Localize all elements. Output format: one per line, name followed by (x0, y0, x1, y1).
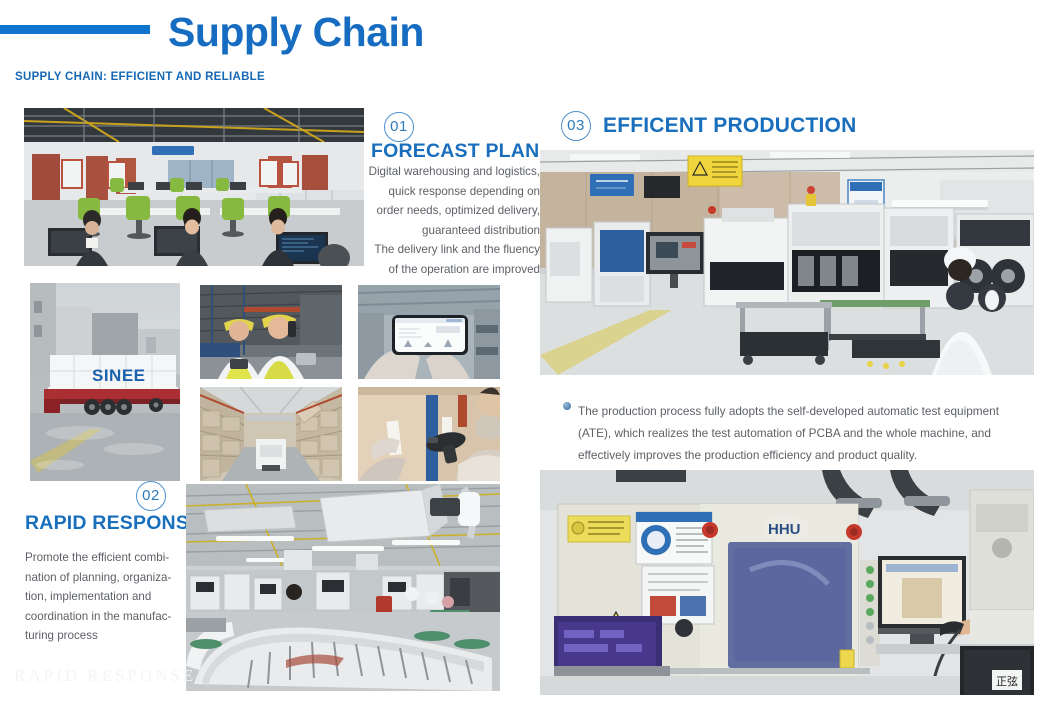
page-title: Supply Chain (168, 7, 424, 57)
photo-office (24, 108, 364, 266)
photo-warehouse-aisle (200, 387, 342, 481)
section-title-rapid-response: RAPID RESPONSE (25, 512, 202, 535)
photo-ate-test: HHU (540, 470, 1034, 695)
section-body-rapid-response: Promote the efficient combi- nation of p… (25, 548, 185, 646)
photo-warehouse-workers (200, 285, 342, 379)
section-number-03: 03 (561, 111, 591, 141)
header-accent-rule (0, 25, 150, 34)
section-title-efficent-production: EFFICENT PRODUCTION (603, 114, 856, 138)
photo-smt-line (540, 150, 1034, 375)
photo-phone-dashboard (358, 285, 500, 379)
photo-barcode-scan (358, 387, 500, 481)
photo-truck-sinee: SINEE (30, 283, 180, 481)
photo-assembly-line (186, 484, 500, 691)
bullet-point-icon (563, 402, 571, 410)
section-body-efficent-production: The production process fully adopts the … (578, 400, 1030, 466)
slide-page: Supply Chain SUPPLY CHAIN: EFFICIENT AND… (0, 0, 1058, 712)
svg-text:正弦: 正弦 (996, 674, 1018, 688)
svg-text:SINEE: SINEE (92, 366, 146, 385)
page-subtitle: SUPPLY CHAIN: EFFICIENT AND RELIABLE (15, 71, 265, 83)
section-body-forecast-plan: Digital warehousing and logistics, quick… (364, 162, 540, 279)
section-title-forecast-plan: FORECAST PLAN (371, 140, 539, 163)
svg-text:HHU: HHU (768, 521, 801, 538)
section-number-02: 02 (136, 481, 166, 511)
section-number-01: 01 (384, 112, 414, 142)
watermark-text: RAPID RESPONSE (14, 666, 196, 686)
